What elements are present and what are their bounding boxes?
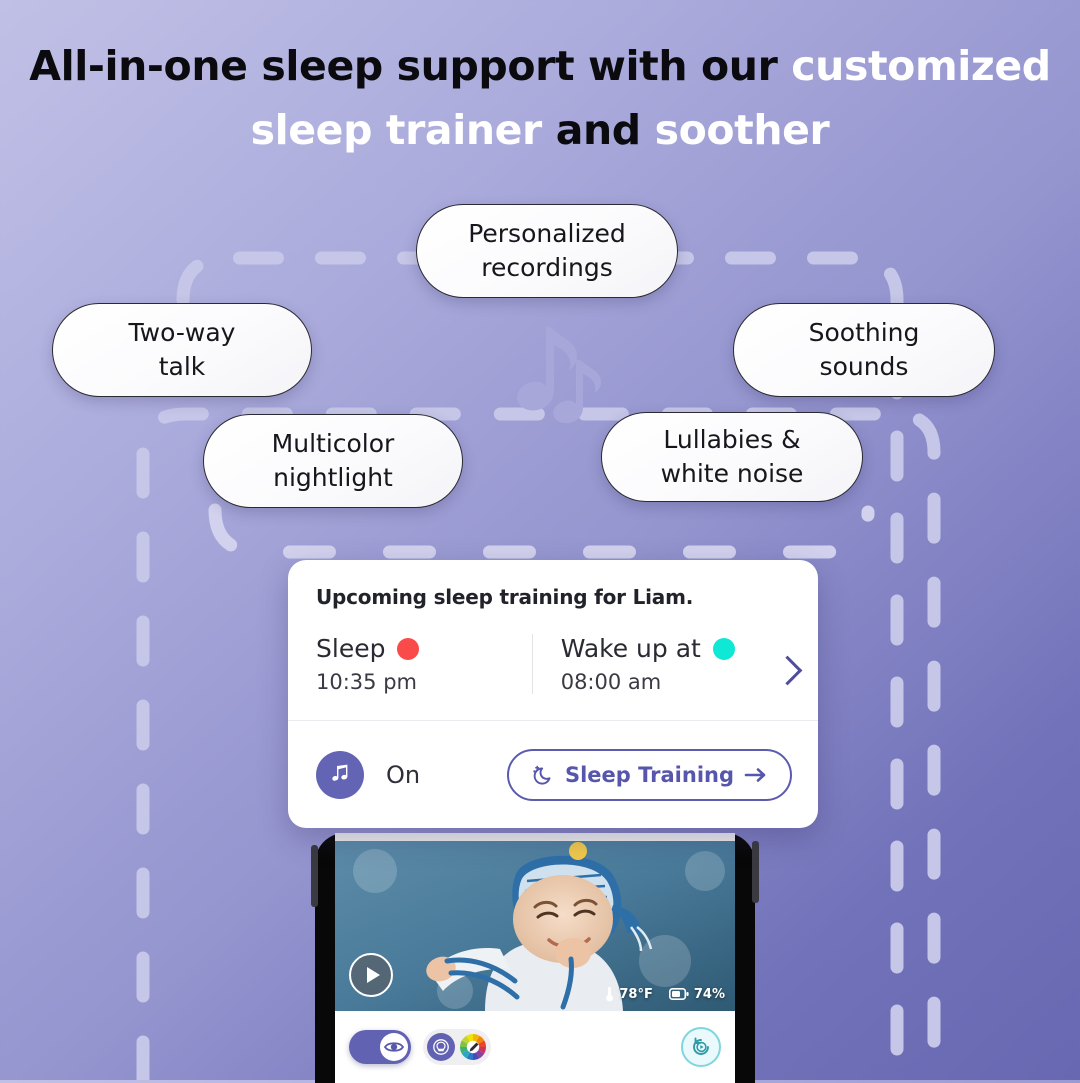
feature-pill-line1: Multicolor: [272, 429, 395, 458]
battery-stat: 74%: [669, 987, 725, 1002]
camera-feed[interactable]: 78°F 74%: [335, 841, 735, 1011]
color-wheel-glyph: [459, 1033, 487, 1061]
lower-dashed-path: [215, 510, 868, 552]
sleep-training-card[interactable]: Upcoming sleep training for Liam. Sleep …: [288, 560, 818, 828]
headline-word-group: customized: [791, 42, 1050, 90]
wake-status-dot: [713, 638, 735, 660]
feature-pill-line1: Soothing: [809, 318, 920, 347]
phone-side-button-left: [311, 845, 318, 907]
replay-icon[interactable]: [681, 1027, 721, 1067]
feature-pill-line2: nightlight: [273, 463, 393, 492]
feature-pill-line1: Two-way: [129, 318, 236, 347]
feature-pill-line2: talk: [159, 352, 206, 381]
play-triangle: [367, 967, 380, 983]
feature-pill-line1: Personalized: [468, 219, 626, 248]
phone-side-button-right: [752, 841, 759, 903]
nightlight-segment-group: [423, 1029, 491, 1065]
screen-status-strip: [335, 833, 735, 841]
sleep-status-dot: [397, 638, 419, 660]
feature-pill-two-way-talk[interactable]: Two-way talk: [52, 303, 312, 397]
arrow-right-icon: [744, 767, 768, 783]
phone-screen: 78°F 74%: [335, 833, 735, 1083]
sleep-time: 10:35 pm: [316, 670, 532, 694]
feature-pill-line2: sounds: [820, 352, 909, 381]
card-title: Upcoming sleep training for Liam.: [316, 585, 693, 609]
headline-line-2: sleep trainer and soother: [0, 98, 1080, 162]
headline-line-1: All-in-one sleep support with our custom…: [0, 34, 1080, 98]
feature-pill-line2: recordings: [481, 253, 613, 282]
headline-word-group: soother: [655, 106, 830, 154]
thermometer-icon: [605, 986, 614, 1002]
phone-control-bar: [335, 1011, 735, 1083]
nightlight-bulb-icon[interactable]: [427, 1033, 455, 1061]
schedule-row: Sleep 10:35 pm Wake up at 08:00 am: [316, 634, 796, 712]
toggle-knob: [380, 1033, 408, 1061]
poster-canvas: All-in-one sleep support with our custom…: [0, 0, 1080, 1080]
replay-glyph: [691, 1037, 711, 1057]
battery-value: 74%: [694, 987, 725, 1002]
wake-time: 08:00 am: [561, 670, 796, 694]
music-notes-icon[interactable]: [316, 751, 364, 799]
feature-pill-line1: Lullabies &: [663, 425, 800, 454]
wake-schedule: Wake up at 08:00 am: [532, 634, 796, 694]
eye-icon: [384, 1040, 404, 1054]
sleep-training-button[interactable]: Sleep Training: [507, 749, 792, 801]
headline-word-group: All-in-one sleep support with our: [29, 42, 777, 90]
temperature-stat: 78°F: [605, 986, 652, 1002]
feature-pill-lullabies-white-noise[interactable]: Lullabies & white noise: [601, 412, 863, 502]
temperature-value: 78°F: [619, 987, 652, 1002]
sleep-schedule: Sleep 10:35 pm: [316, 634, 532, 694]
music-note-icon: [498, 312, 608, 427]
feature-pill-multicolor-nightlight[interactable]: Multicolor nightlight: [203, 414, 463, 508]
headline-word-group: and: [556, 106, 641, 154]
battery-icon: [669, 988, 689, 1000]
music-notes-glyph: [327, 762, 353, 788]
moon-sparkle-icon: [531, 763, 555, 787]
card-divider: [288, 720, 818, 721]
phone-mockup: 78°F 74%: [315, 833, 755, 1083]
wake-label: Wake up at: [561, 634, 701, 663]
wake-schedule-head: Wake up at: [561, 634, 796, 663]
vision-toggle[interactable]: [349, 1030, 411, 1064]
headline-word-group: sleep trainer: [251, 106, 542, 154]
sleep-label: Sleep: [316, 634, 385, 663]
feature-pill-personalized-recordings[interactable]: Personalized recordings: [416, 204, 678, 298]
feature-pill-line2: white noise: [661, 459, 804, 488]
camera-status-overlay: 78°F 74%: [605, 986, 725, 1002]
sleep-training-button-label: Sleep Training: [565, 763, 734, 787]
bulb-glyph: [432, 1038, 450, 1056]
color-wheel-icon[interactable]: [459, 1033, 487, 1061]
play-circle-icon[interactable]: [349, 953, 393, 997]
sleep-schedule-head: Sleep: [316, 634, 532, 663]
sound-status-label: On: [386, 761, 420, 789]
feature-pill-soothing-sounds[interactable]: Soothing sounds: [733, 303, 995, 397]
card-footer: On Sleep Training: [316, 736, 792, 814]
page-headline: All-in-one sleep support with our custom…: [0, 34, 1080, 162]
